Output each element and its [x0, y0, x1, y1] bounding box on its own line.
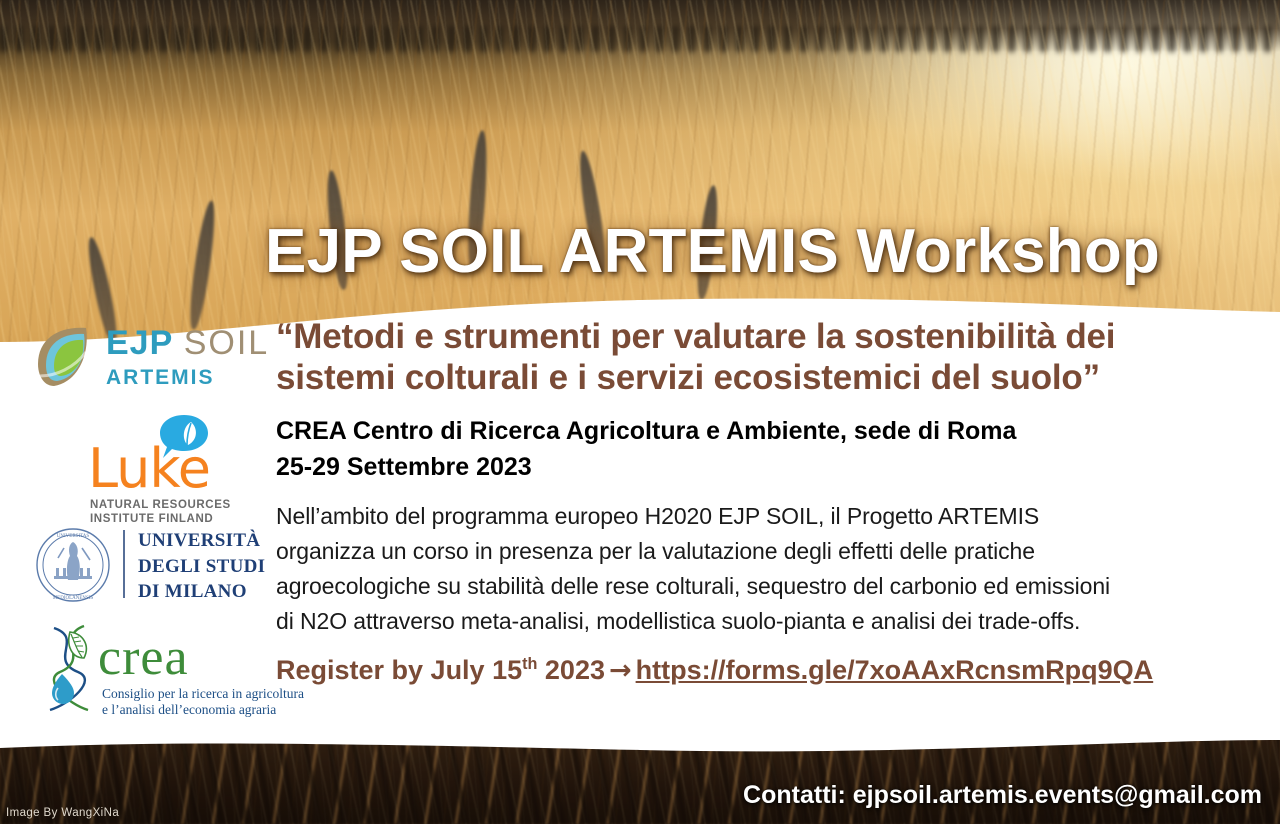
ejp-soil-wordmark: EJP SOIL ARTEMIS: [106, 326, 269, 390]
panel-content: EJP SOIL ARTEMIS Luke: [0, 270, 1280, 770]
register-ordinal-suffix: th: [522, 655, 537, 673]
text-column: “Metodi e strumenti per valutare la sost…: [276, 316, 1266, 686]
registration-line: Register by July 15th 2023→https://forms…: [276, 655, 1266, 686]
description-line3: agroecologiche su stabilità delle rese c…: [276, 569, 1266, 604]
description-line1: Nell’ambito del programma europeo H2020 …: [276, 499, 1266, 534]
venue-and-dates: CREA Centro di Ricerca Agricoltura e Amb…: [276, 413, 1266, 486]
svg-text:UNIVERSITAS: UNIVERSITAS: [57, 534, 90, 539]
unimi-line2: DEGLI STUDI: [138, 554, 265, 580]
description-paragraph: Nell’ambito del programma europeo H2020 …: [276, 499, 1266, 639]
logo-crea: crea Consiglio per la ricerca in agricol…: [18, 618, 268, 722]
image-credit: Image By WangXiNa: [6, 807, 119, 819]
ejp-word: EJP: [106, 324, 173, 362]
workshop-subtitle: “Metodi e strumenti per valutare la sost…: [276, 316, 1266, 399]
description-line2: organizza un corso in presenza per la va…: [276, 534, 1266, 569]
description-line4: di N2O attraverso meta-analisi, modellis…: [276, 604, 1266, 639]
artemis-word: ARTEMIS: [106, 366, 269, 390]
soil-word: SOIL: [184, 324, 269, 362]
svg-text:MEDIOLANENSIS: MEDIOLANENSIS: [53, 596, 94, 601]
unimi-wordmark: UNIVERSITÀ DEGLI STUDI DI MILANO: [138, 528, 265, 605]
luke-subtitle-line1: NATURAL RESOURCES: [90, 498, 231, 512]
luke-wordmark: Luke: [88, 442, 210, 496]
logo-ejp-soil-artemis: EJP SOIL ARTEMIS: [18, 322, 268, 410]
crea-subtitle-line2: e l’analisi dell’economia agraria: [102, 702, 304, 718]
partner-logos: EJP SOIL ARTEMIS Luke: [18, 322, 268, 722]
subtitle-line2: sistemi colturali e i servizi ecosistemi…: [276, 357, 1266, 398]
university-seal-icon: UNIVERSITAS MEDIOLANENSIS: [34, 526, 112, 604]
dates-line: 25-29 Settembre 2023: [276, 449, 1266, 485]
contact-line: Contatti: ejpsoil.artemis.events@gmail.c…: [743, 781, 1262, 810]
leaf-icon: [30, 324, 100, 392]
crea-subtitle: Consiglio per la ricerca in agricoltura …: [102, 686, 304, 718]
crea-wordmark: crea: [98, 632, 189, 684]
unimi-line1: UNIVERSITÀ: [138, 528, 265, 554]
arrow-right-icon: →: [605, 655, 636, 686]
register-year: 2023: [537, 655, 605, 685]
unimi-line3: DI MILANO: [138, 579, 265, 605]
venue-line: CREA Centro di Ricerca Agricoltura e Amb…: [276, 413, 1266, 449]
subtitle-line1: “Metodi e strumenti per valutare la sost…: [276, 316, 1266, 357]
register-label: Register by July 15: [276, 655, 522, 685]
poster: EJP SOIL ARTEMIS Workshop: [0, 0, 1280, 824]
logo-luke: Luke NATURAL RESOURCES INSTITUTE FINLAND: [18, 410, 268, 518]
divider: [123, 530, 125, 598]
logo-universita-milano: UNIVERSITAS MEDIOLANENSIS UNIVERSITÀ DEG…: [18, 518, 268, 618]
registration-link[interactable]: https://forms.gle/7xoAAxRcnsmRpq9QA: [636, 655, 1154, 685]
crea-subtitle-line1: Consiglio per la ricerca in agricoltura: [102, 686, 304, 702]
dna-leaf-drop-icon: [40, 622, 102, 714]
